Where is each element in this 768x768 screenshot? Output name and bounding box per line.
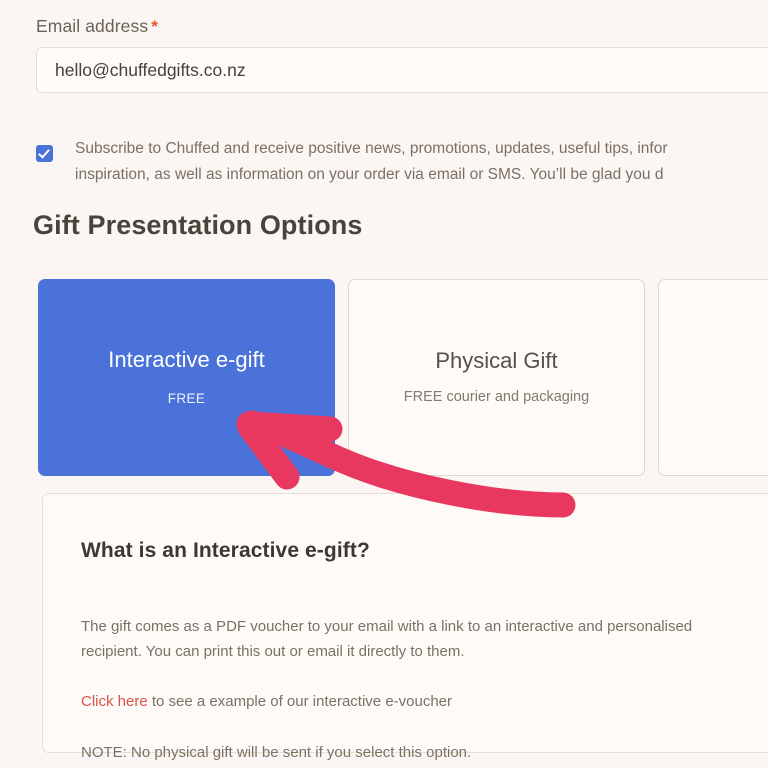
- subscribe-checkbox[interactable]: [36, 145, 53, 162]
- email-address-label-text: Email address: [36, 16, 148, 36]
- info-panel-link-tail: to see a example of our interactive e-vo…: [148, 693, 452, 710]
- example-evoucher-link[interactable]: Click here: [81, 693, 148, 710]
- option-card-subtitle: FREE: [168, 388, 206, 409]
- info-panel-note: NOTE: No physical gift will be sent if y…: [81, 740, 768, 765]
- option-card-physical-gift-with-wrapping[interactable]: Physic W FREE cou $6 w in: [658, 279, 768, 476]
- option-card-title: Interactive e-gift: [108, 346, 265, 374]
- option-card-interactive-egift[interactable]: Interactive e-gift FREE: [38, 279, 335, 476]
- required-asterisk: *: [151, 17, 158, 36]
- option-card-subtitle: FREE courier and packaging: [404, 387, 589, 408]
- info-panel-body-text: The gift comes as a PDF voucher to your …: [81, 618, 692, 660]
- page-title: Gift Presentation Options: [33, 210, 363, 241]
- gift-presentation-options: Interactive e-gift FREE Physical Gift FR…: [38, 279, 768, 476]
- email-input[interactable]: [36, 47, 768, 93]
- info-panel: What is an Interactive e-gift? The gift …: [42, 493, 768, 753]
- option-card-physical-gift[interactable]: Physical Gift FREE courier and packaging: [348, 279, 645, 476]
- info-panel-title: What is an Interactive e-gift?: [81, 539, 768, 563]
- subscribe-label: Subscribe to Chuffed and receive positiv…: [75, 136, 668, 188]
- email-address-label: Email address*: [36, 16, 768, 37]
- subscribe-row[interactable]: Subscribe to Chuffed and receive positiv…: [36, 136, 768, 188]
- info-panel-body: The gift comes as a PDF voucher to your …: [81, 589, 768, 714]
- page-root: Email address* Subscribe to Chuffed and …: [0, 0, 768, 768]
- option-card-title: Physical Gift: [435, 347, 557, 375]
- email-address-field-group: Email address*: [36, 16, 768, 93]
